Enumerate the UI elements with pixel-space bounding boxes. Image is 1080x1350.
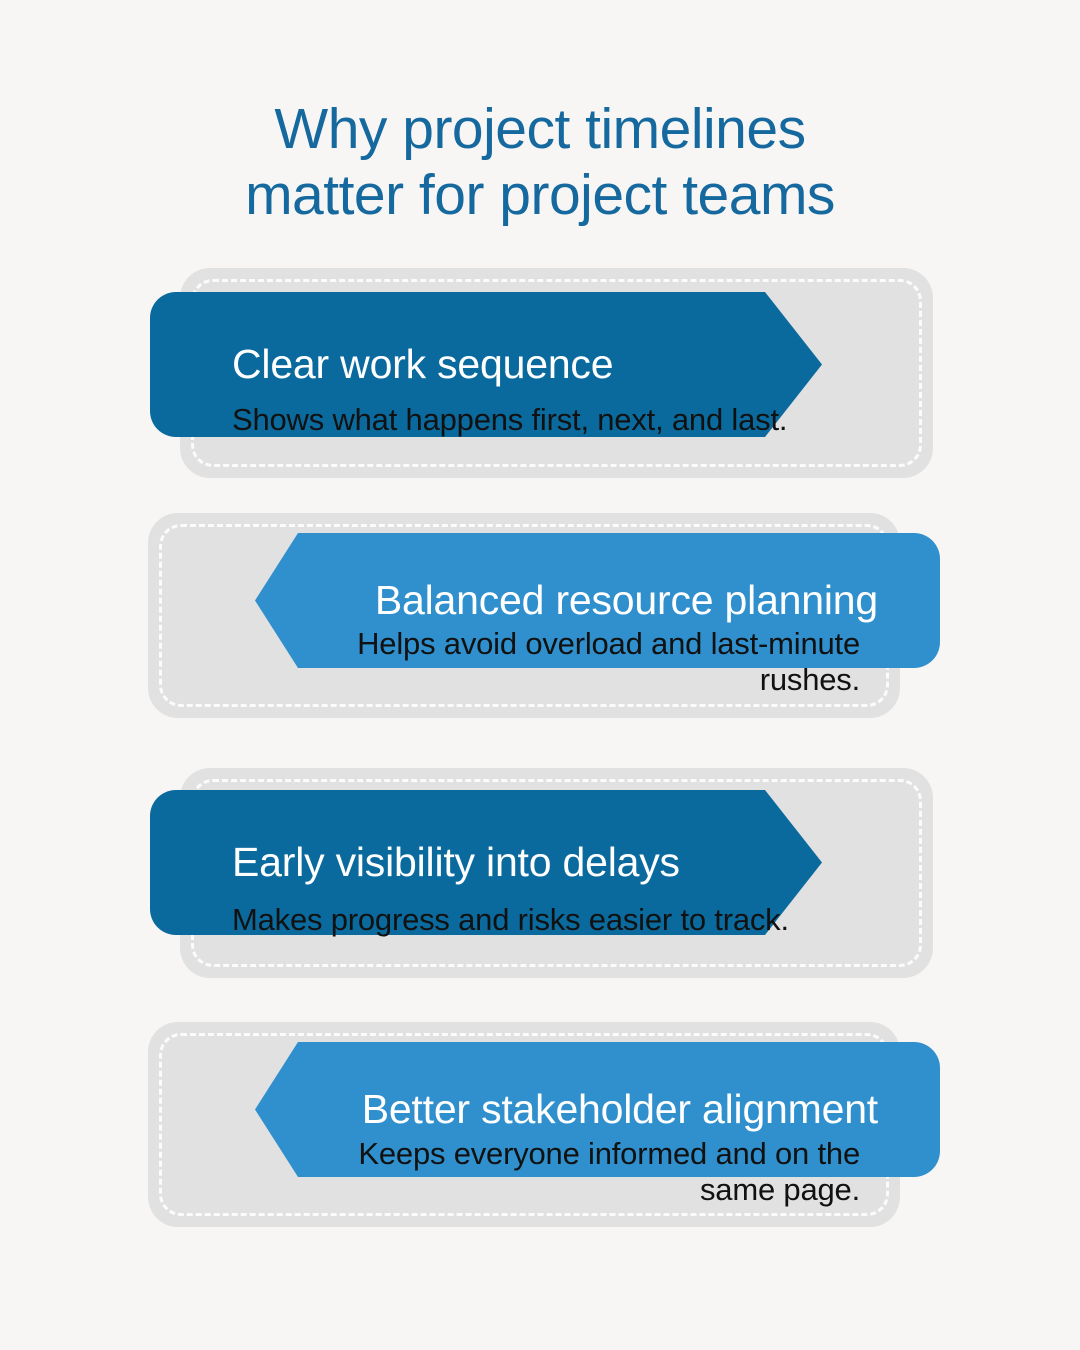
infographic-canvas: Why project timelines matter for project… [0, 0, 1080, 1350]
card-3-heading: Early visibility into delays [232, 840, 822, 885]
card-1-body: Shows what happens first, next, and last… [232, 402, 882, 438]
card-4-heading: Better stakeholder alignment [255, 1087, 878, 1132]
card-4-body: Keeps everyone informed and on the same … [280, 1136, 860, 1208]
card-1-heading: Clear work sequence [232, 342, 822, 387]
card-2-body: Helps avoid overload and last-minute rus… [330, 626, 860, 698]
card-2-heading: Balanced resource planning [255, 578, 878, 623]
card-3-body: Makes progress and risks easier to track… [232, 902, 882, 938]
page-title: Why project timelines matter for project… [0, 96, 1080, 228]
